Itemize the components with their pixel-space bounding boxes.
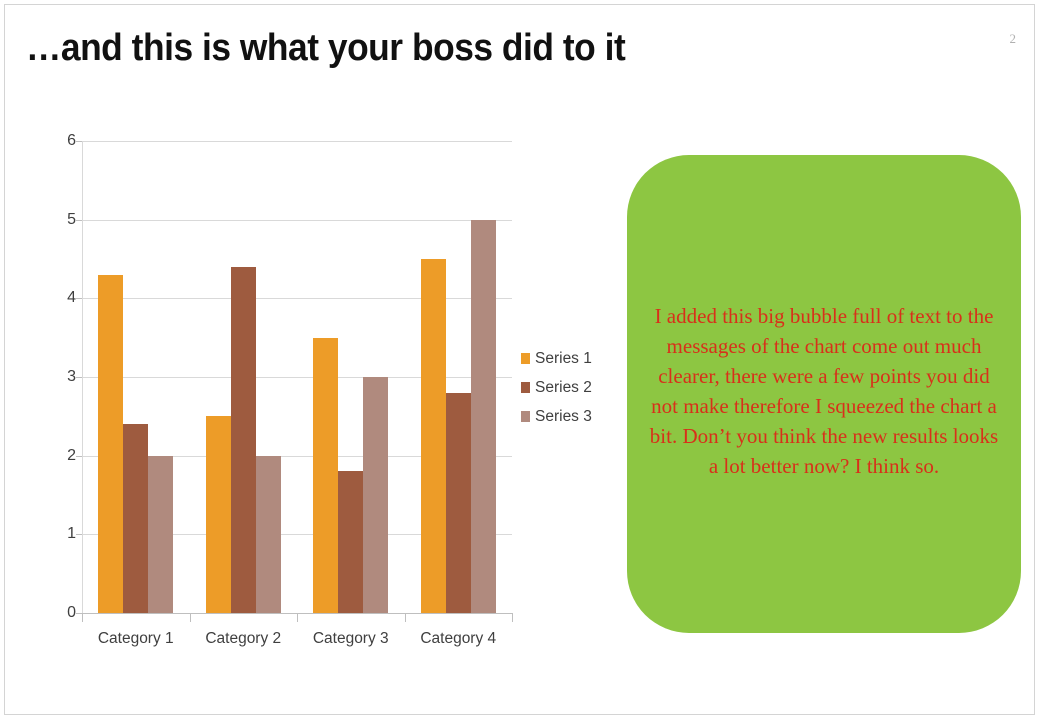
x-axis-tick [190,613,191,622]
y-axis-tick [76,298,82,299]
bar[interactable] [421,259,446,613]
page-number: 2 [1010,31,1017,47]
y-axis-tick [76,220,82,221]
callout-bubble-text: I added this big bubble full of text to … [643,301,1005,481]
x-axis-tick [512,613,513,622]
y-axis-tick-label: 3 [44,369,76,385]
y-axis-tick-label: 1 [44,526,76,542]
x-axis-category-label: Category 2 [190,630,298,648]
y-axis-tick-label: 0 [44,605,76,621]
x-axis-category-label: Category 3 [297,630,405,648]
bar-chart[interactable]: 0123456 Category 1Category 2Category 3Ca… [40,130,540,660]
y-axis-tick-label: 2 [44,448,76,464]
x-axis-tick [405,613,406,622]
x-axis-tick [82,613,83,622]
y-axis-tick-label: 5 [44,212,76,228]
legend-item[interactable]: Series 2 [521,373,601,402]
bar[interactable] [313,338,338,613]
bar[interactable] [206,416,231,613]
gridline [82,220,512,221]
y-axis-tick-label: 4 [44,290,76,306]
legend-item[interactable]: Series 1 [521,344,601,373]
gridline [82,377,512,378]
bar[interactable] [446,393,471,613]
x-axis-tick [297,613,298,622]
page-title: …and this is what your boss did to it [26,27,625,70]
legend-swatch-icon [521,382,530,393]
legend-item[interactable]: Series 3 [521,402,601,431]
gridline [82,141,512,142]
bar[interactable] [148,456,173,613]
y-axis-labels: 0123456 [40,130,76,660]
x-axis-category-label: Category 1 [82,630,190,648]
y-axis-tick [76,377,82,378]
legend-item-label: Series 2 [535,379,592,397]
legend-item-label: Series 1 [535,350,592,368]
slide: …and this is what your boss did to it 2 … [0,0,1040,720]
plot-area [82,141,512,613]
legend-item-label: Series 3 [535,408,592,426]
y-axis-tick-label: 6 [44,133,76,149]
bar[interactable] [471,220,496,613]
callout-bubble[interactable]: I added this big bubble full of text to … [627,155,1021,633]
chart-legend[interactable]: Series 1Series 2Series 3 [521,344,601,431]
bar[interactable] [98,275,123,613]
legend-swatch-icon [521,353,530,364]
bar[interactable] [363,377,388,613]
bar[interactable] [256,456,281,613]
gridline [82,298,512,299]
bar[interactable] [338,471,363,613]
bar[interactable] [123,424,148,613]
y-axis-tick [76,456,82,457]
y-axis-tick [76,141,82,142]
bar[interactable] [231,267,256,613]
y-axis-tick [76,534,82,535]
x-axis-category-label: Category 4 [405,630,513,648]
legend-swatch-icon [521,411,530,422]
